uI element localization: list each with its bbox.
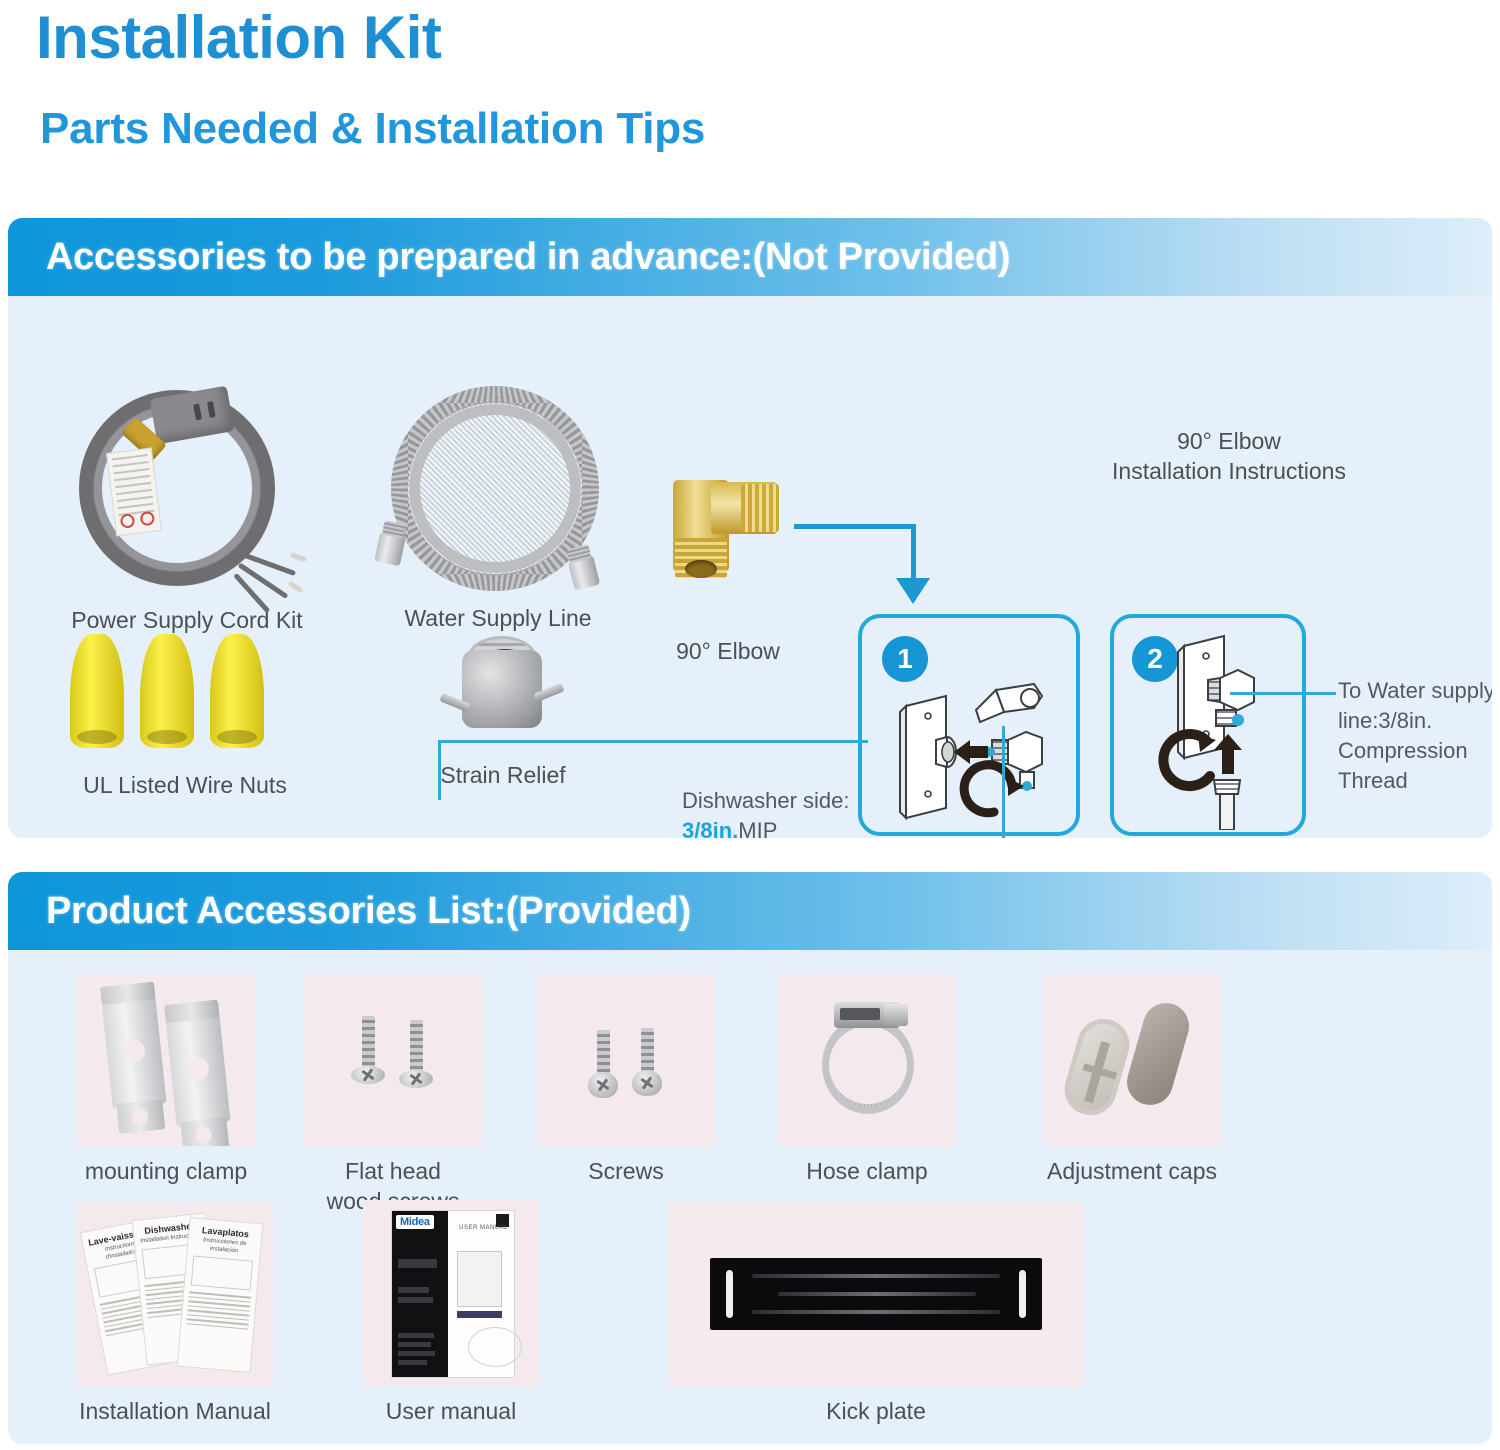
hose-clamp-icon: [778, 974, 956, 1146]
part-label: UL Listed Wire Nuts: [50, 770, 320, 800]
tile-adjustment-caps: Adjustment caps: [1016, 974, 1248, 1186]
callout-supply-line1: To Water supply: [1338, 676, 1492, 706]
callout-supply-line3: Compression: [1338, 736, 1492, 766]
callout-supply-line2: line:3/8in.: [1338, 706, 1492, 736]
water-line-side-lead: [1002, 726, 1005, 838]
tile-label: Screws: [536, 1156, 716, 1186]
user-manual-label: USER MANUAL: [459, 1225, 508, 1231]
elbow-connector-vertical: [911, 524, 916, 580]
elbow-instructions-title-line2: Installation Instructions: [1074, 456, 1384, 486]
callout-dishwasher-side: Dishwasher side: 3/8in.MIP (Male Iron Pi…: [682, 786, 942, 838]
user-manual-icon: Midea USER MANUAL: [363, 1200, 539, 1386]
callout-dishwasher-line2-rest: MIP: [738, 818, 777, 838]
elbow-instructions-title: 90° Elbow Installation Instructions: [1074, 426, 1384, 486]
page-subtitle: Parts Needed & Installation Tips: [40, 98, 705, 160]
part-label: Water Supply Line: [368, 603, 628, 633]
provided-section-header: Product Accessories List:(Provided): [8, 872, 1492, 950]
kick-plate-icon: [668, 1202, 1084, 1386]
elbow-instructions-title-line1: 90° Elbow: [1074, 426, 1384, 456]
part-water-supply-line: Water Supply Line: [368, 382, 628, 633]
tile-hose-clamp: Hose clamp: [776, 974, 958, 1186]
tile-label: Kick plate: [668, 1396, 1084, 1426]
prepare-section-header: Accessories to be prepared in advance:(N…: [8, 218, 1492, 296]
wire-nuts-icon: [60, 626, 310, 756]
part-label: Strain Relief: [408, 760, 598, 790]
callout-dishwasher-size: 3/8in.: [682, 818, 738, 838]
tile-mounting-clamp: mounting clamp: [58, 974, 274, 1186]
tile-installation-manual: Lave-vaisselle Instructions d'installati…: [56, 1202, 294, 1426]
midea-brand-logo: Midea: [396, 1215, 434, 1229]
callout-water-supply: To Water supply line:3/8in. Compression …: [1338, 676, 1492, 796]
valve-plate-step2-icon: [1154, 634, 1304, 830]
part-90-elbow: 90° Elbow: [653, 476, 803, 666]
adjustment-caps-icon: [1043, 974, 1221, 1146]
dishwasher-side-lead-horizontal: [438, 740, 868, 743]
tile-label: Hose clamp: [776, 1156, 958, 1186]
page-title: Installation Kit: [36, 2, 441, 74]
brass-elbow-icon: [665, 476, 785, 588]
prepare-section-header-label: Accessories to be prepared in advance:(N…: [46, 236, 1010, 279]
step-1-number: 1: [897, 643, 913, 675]
dishwasher-side-lead-vertical: [438, 740, 441, 800]
installation-kit-page: Installation Kit Parts Needed & Installa…: [0, 0, 1500, 1450]
callout-water-line-side: Water line side: 3/8in.Compression Threa…: [888, 836, 1308, 838]
step-1-badge: 1: [882, 636, 928, 682]
provided-section-panel: Product Accessories List:(Provided) moun…: [8, 872, 1492, 1444]
tile-kick-plate: Kick plate: [668, 1202, 1084, 1426]
elbow-connector-horizontal: [794, 524, 916, 529]
tile-label: Installation Manual: [56, 1396, 294, 1426]
mounting-clamp-icon: [77, 974, 255, 1146]
water-supply-lead: [1230, 692, 1336, 695]
tile-label: Adjustment caps: [1016, 1156, 1248, 1186]
part-strain-relief: Strain Relief: [408, 632, 598, 790]
strain-relief-icon: [438, 632, 568, 750]
callout-supply-line4: Thread: [1338, 766, 1492, 796]
callout-dishwasher-line1: Dishwasher side:: [682, 786, 942, 816]
tile-flat-head-wood-screws: Flat head wood screws: [300, 974, 486, 1216]
tile-user-manual: Midea USER MANUAL: [356, 1200, 546, 1426]
power-cord-icon: [67, 384, 307, 599]
braided-hose-icon: [373, 382, 623, 597]
part-ul-listed-wire-nuts: UL Listed Wire Nuts: [50, 626, 320, 800]
elbow-connector-arrow-icon: [896, 578, 930, 604]
callout-water-line-line1: Water line side:: [888, 836, 1308, 838]
provided-section-header-label: Product Accessories List:(Provided): [46, 890, 691, 933]
part-label: 90° Elbow: [653, 636, 803, 666]
flat-head-wood-screws-icon: [304, 974, 482, 1146]
installation-manual-icon: Lave-vaisselle Instructions d'installati…: [77, 1202, 273, 1386]
tile-screws: Screws: [536, 974, 716, 1186]
screws-icon: [537, 974, 715, 1146]
tile-label: User manual: [356, 1396, 546, 1426]
tile-label: mounting clamp: [58, 1156, 274, 1186]
elbow-step-2-box: 2: [1110, 614, 1306, 836]
prepare-section-panel: Accessories to be prepared in advance:(N…: [8, 218, 1492, 838]
part-power-supply-cord-kit: Power Supply Cord Kit: [52, 384, 322, 635]
